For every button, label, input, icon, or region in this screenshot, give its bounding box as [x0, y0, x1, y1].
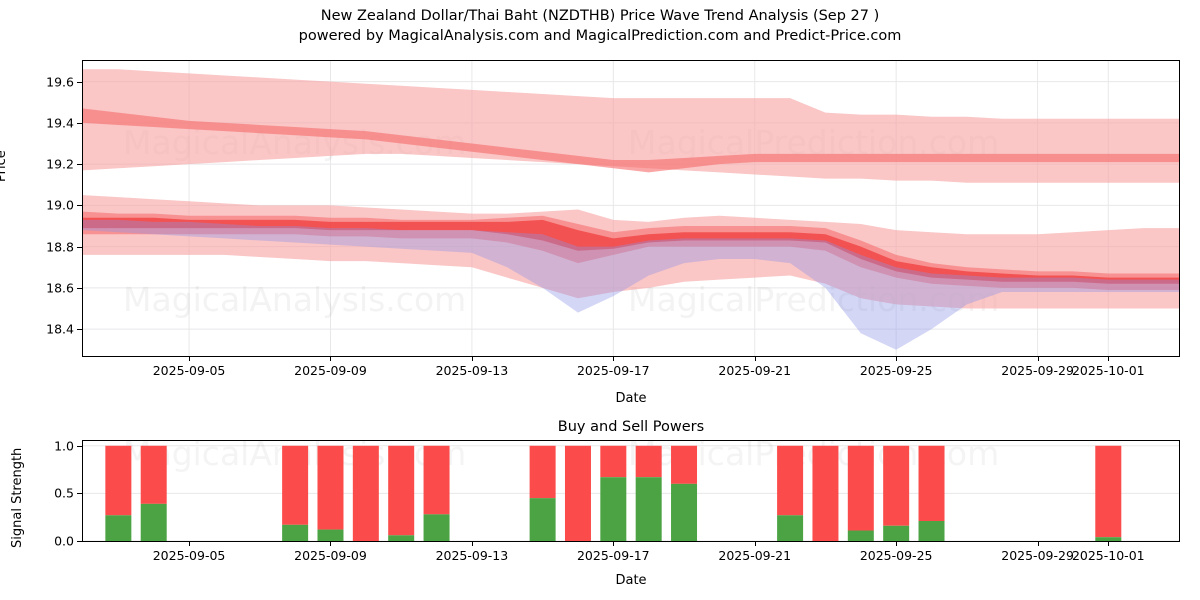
price-y-tick-label: 18.8: [2, 239, 74, 254]
sell-power-bar: [1095, 446, 1121, 537]
buy-sell-powers-chart: MagicalAnalysis.comMagicalPrediction.com: [82, 440, 1180, 542]
price-x-tick-label: 2025-09-17: [577, 363, 650, 378]
price-x-tick-label: 2025-09-25: [860, 363, 933, 378]
buy-power-bar: [919, 521, 945, 541]
sell-power-bar: [141, 446, 167, 504]
buy-power-bar: [282, 525, 308, 541]
page-subtitle: powered by MagicalAnalysis.com and Magic…: [0, 26, 1200, 46]
buy-power-bar: [424, 514, 450, 541]
power-y-tick-label: 0.0: [2, 534, 74, 549]
price-y-tick-label: 19.4: [2, 115, 74, 130]
price-x-tick-label: 2025-10-01: [1072, 363, 1145, 378]
sell-power-bar: [848, 446, 874, 531]
price-x-tick-label: 2025-09-29: [1001, 363, 1074, 378]
power-x-axis-title: Date: [615, 573, 646, 588]
buy-power-bar: [671, 484, 697, 541]
chart-title-block: New Zealand Dollar/Thai Baht (NZDTHB) Pr…: [0, 6, 1200, 46]
sell-power-bar: [388, 446, 414, 536]
power-x-tick-label: 2025-09-09: [294, 548, 367, 563]
sell-power-bar: [636, 446, 662, 477]
buy-power-bar: [636, 477, 662, 541]
price-x-tick-label: 2025-09-09: [294, 363, 367, 378]
buy-power-bar: [883, 526, 909, 541]
power-x-tick-label: 2025-09-13: [436, 548, 509, 563]
buy-power-bar: [141, 504, 167, 541]
buy-power-bar: [600, 477, 626, 541]
sell-power-bar: [565, 446, 591, 541]
price-y-tick-label: 18.6: [2, 280, 74, 295]
sell-power-bar: [919, 446, 945, 521]
sell-power-bar: [777, 446, 803, 516]
sell-power-bar: [883, 446, 909, 526]
price-x-axis-title: Date: [615, 391, 646, 406]
power-x-tick-label: 2025-09-25: [860, 548, 933, 563]
buy-power-bar: [1095, 537, 1121, 541]
power-chart-title: Buy and Sell Powers: [558, 419, 704, 435]
power-y-tick-label: 0.5: [2, 486, 74, 501]
sell-power-bar: [600, 446, 626, 477]
sell-power-bar: [671, 446, 697, 484]
sell-power-bar: [530, 446, 556, 498]
chart-page: New Zealand Dollar/Thai Baht (NZDTHB) Pr…: [0, 0, 1200, 600]
sell-power-bar: [424, 446, 450, 515]
price-y-tick-label: 19.2: [2, 157, 74, 172]
power-x-tick-label: 2025-09-17: [577, 548, 650, 563]
power-x-tick-label: 2025-09-05: [153, 548, 226, 563]
page-title: New Zealand Dollar/Thai Baht (NZDTHB) Pr…: [0, 6, 1200, 26]
power-x-tick-label: 2025-10-01: [1072, 548, 1145, 563]
price-y-tick-label: 19.0: [2, 198, 74, 213]
price-wave-svg: MagicalAnalysis.comMagicalPrediction.com…: [83, 61, 1179, 356]
power-x-tick-label: 2025-09-29: [1001, 548, 1074, 563]
power-y-tick-label: 1.0: [2, 438, 74, 453]
buy-power-bar: [317, 530, 343, 541]
sell-power-bar: [282, 446, 308, 525]
price-y-tick-label: 19.6: [2, 74, 74, 89]
sell-power-bar: [812, 446, 838, 541]
buy-power-bar: [530, 498, 556, 541]
price-wave-chart: MagicalAnalysis.comMagicalPrediction.com…: [82, 60, 1180, 357]
svg-text:MagicalAnalysis.com: MagicalAnalysis.com: [123, 280, 466, 319]
sell-power-bar: [317, 446, 343, 530]
buy-power-bar: [105, 515, 131, 541]
buy-power-bar: [777, 515, 803, 541]
power-x-tick-label: 2025-09-21: [718, 548, 791, 563]
buy-power-bar: [848, 531, 874, 541]
price-x-tick-label: 2025-09-05: [153, 363, 226, 378]
sell-power-bar: [353, 446, 379, 541]
buy-sell-powers-svg: MagicalAnalysis.comMagicalPrediction.com: [83, 441, 1179, 541]
buy-power-bar: [388, 535, 414, 541]
price-y-tick-label: 18.4: [2, 322, 74, 337]
sell-power-bar: [105, 446, 131, 516]
price-x-tick-label: 2025-09-21: [718, 363, 791, 378]
price-x-tick-label: 2025-09-13: [436, 363, 509, 378]
